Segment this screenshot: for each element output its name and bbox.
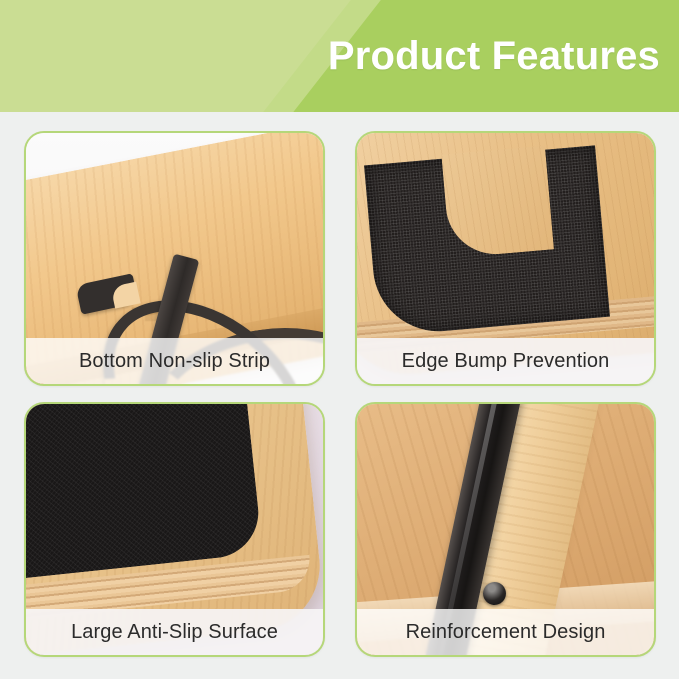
product-features-infographic: Product Features Bottom Non-slip Strip xyxy=(0,0,679,679)
caption-label: Large Anti-Slip Surface xyxy=(71,621,278,644)
feature-card-reinforcement-design[interactable]: Reinforcement Design xyxy=(355,402,656,657)
header-banner: Product Features xyxy=(0,0,679,112)
caption-bar: Edge Bump Prevention xyxy=(357,338,654,384)
caption-bar: Reinforcement Design xyxy=(357,609,654,655)
caption-bar: Large Anti-Slip Surface xyxy=(26,609,323,655)
bumper-pad-cutout xyxy=(441,146,554,259)
textured-rubber-bumper-pad xyxy=(364,145,610,337)
feature-card-bottom-non-slip-strip[interactable]: Bottom Non-slip Strip xyxy=(24,131,325,386)
feature-card-grid: Bottom Non-slip Strip Edge Bump Preventi… xyxy=(24,131,656,657)
feature-card-large-anti-slip-surface[interactable]: Large Anti-Slip Surface xyxy=(24,402,325,657)
page-title: Product Features xyxy=(328,30,660,82)
caption-label: Reinforcement Design xyxy=(406,621,606,644)
feature-card-edge-bump-prevention[interactable]: Edge Bump Prevention xyxy=(355,131,656,386)
caption-bar: Bottom Non-slip Strip xyxy=(26,338,323,384)
caption-label: Bottom Non-slip Strip xyxy=(79,350,270,373)
caption-label: Edge Bump Prevention xyxy=(402,350,610,373)
